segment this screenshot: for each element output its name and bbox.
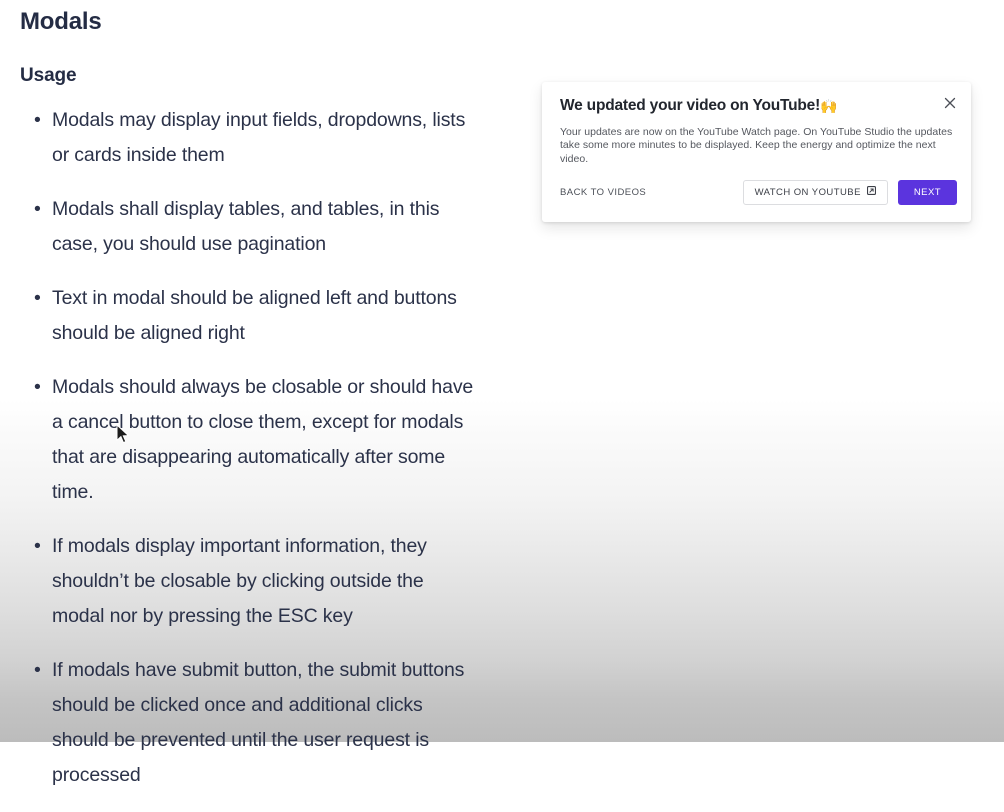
- next-button[interactable]: NEXT: [898, 180, 957, 205]
- raising-hands-emoji-icon: 🙌: [820, 98, 837, 114]
- list-item-text: If modals display important information,…: [52, 535, 427, 627]
- modal-title: We updated your video on YouTube!🙌: [560, 97, 837, 115]
- bullet-icon: •: [34, 192, 41, 227]
- modal-dialog-example: We updated your video on YouTube!🙌 Your …: [542, 82, 971, 222]
- list-item-text: Modals may display input fields, dropdow…: [52, 109, 465, 166]
- bullet-icon: •: [34, 370, 41, 405]
- list-item-text: Text in modal should be aligned left and…: [52, 287, 457, 344]
- watch-on-youtube-label: WATCH ON YOUTUBE: [755, 187, 861, 198]
- list-item: • Modals may display input fields, dropd…: [0, 103, 520, 173]
- modal-primary-actions: WATCH ON YOUTUBE NEXT: [743, 180, 957, 205]
- list-item: • Modals should always be closable or sh…: [0, 370, 520, 510]
- usage-section-heading: Usage: [0, 36, 520, 87]
- close-icon[interactable]: [941, 94, 959, 112]
- external-link-icon: [867, 186, 876, 198]
- list-item-text: Modals shall display tables, and tables,…: [52, 198, 439, 255]
- list-item: • If modals have submit button, the subm…: [0, 653, 520, 793]
- modal-title-text: We updated your video on YouTube!: [560, 97, 820, 114]
- list-item: • Modals shall display tables, and table…: [0, 192, 520, 262]
- list-item: • Text in modal should be aligned left a…: [0, 281, 520, 351]
- bullet-icon: •: [34, 281, 41, 316]
- bullet-icon: •: [34, 529, 41, 564]
- bullet-icon: •: [34, 103, 41, 138]
- list-item-text: If modals have submit button, the submit…: [52, 659, 464, 786]
- list-item: • If modals display important informatio…: [0, 529, 520, 634]
- back-to-videos-button[interactable]: BACK TO VIDEOS: [560, 187, 646, 198]
- documentation-column: Modals Usage • Modals may display input …: [0, 0, 520, 812]
- bullet-icon: •: [34, 653, 41, 688]
- usage-guidelines-list: • Modals may display input fields, dropd…: [0, 87, 520, 793]
- list-item-text: Modals should always be closable or shou…: [52, 376, 473, 503]
- modal-body-text: Your updates are now on the YouTube Watc…: [560, 126, 956, 166]
- watch-on-youtube-button[interactable]: WATCH ON YOUTUBE: [743, 180, 888, 205]
- modal-action-row: BACK TO VIDEOS WATCH ON YOUTUBE NEXT: [560, 179, 957, 205]
- page-background: Modals Usage • Modals may display input …: [0, 0, 1004, 742]
- page-title: Modals: [0, 0, 520, 36]
